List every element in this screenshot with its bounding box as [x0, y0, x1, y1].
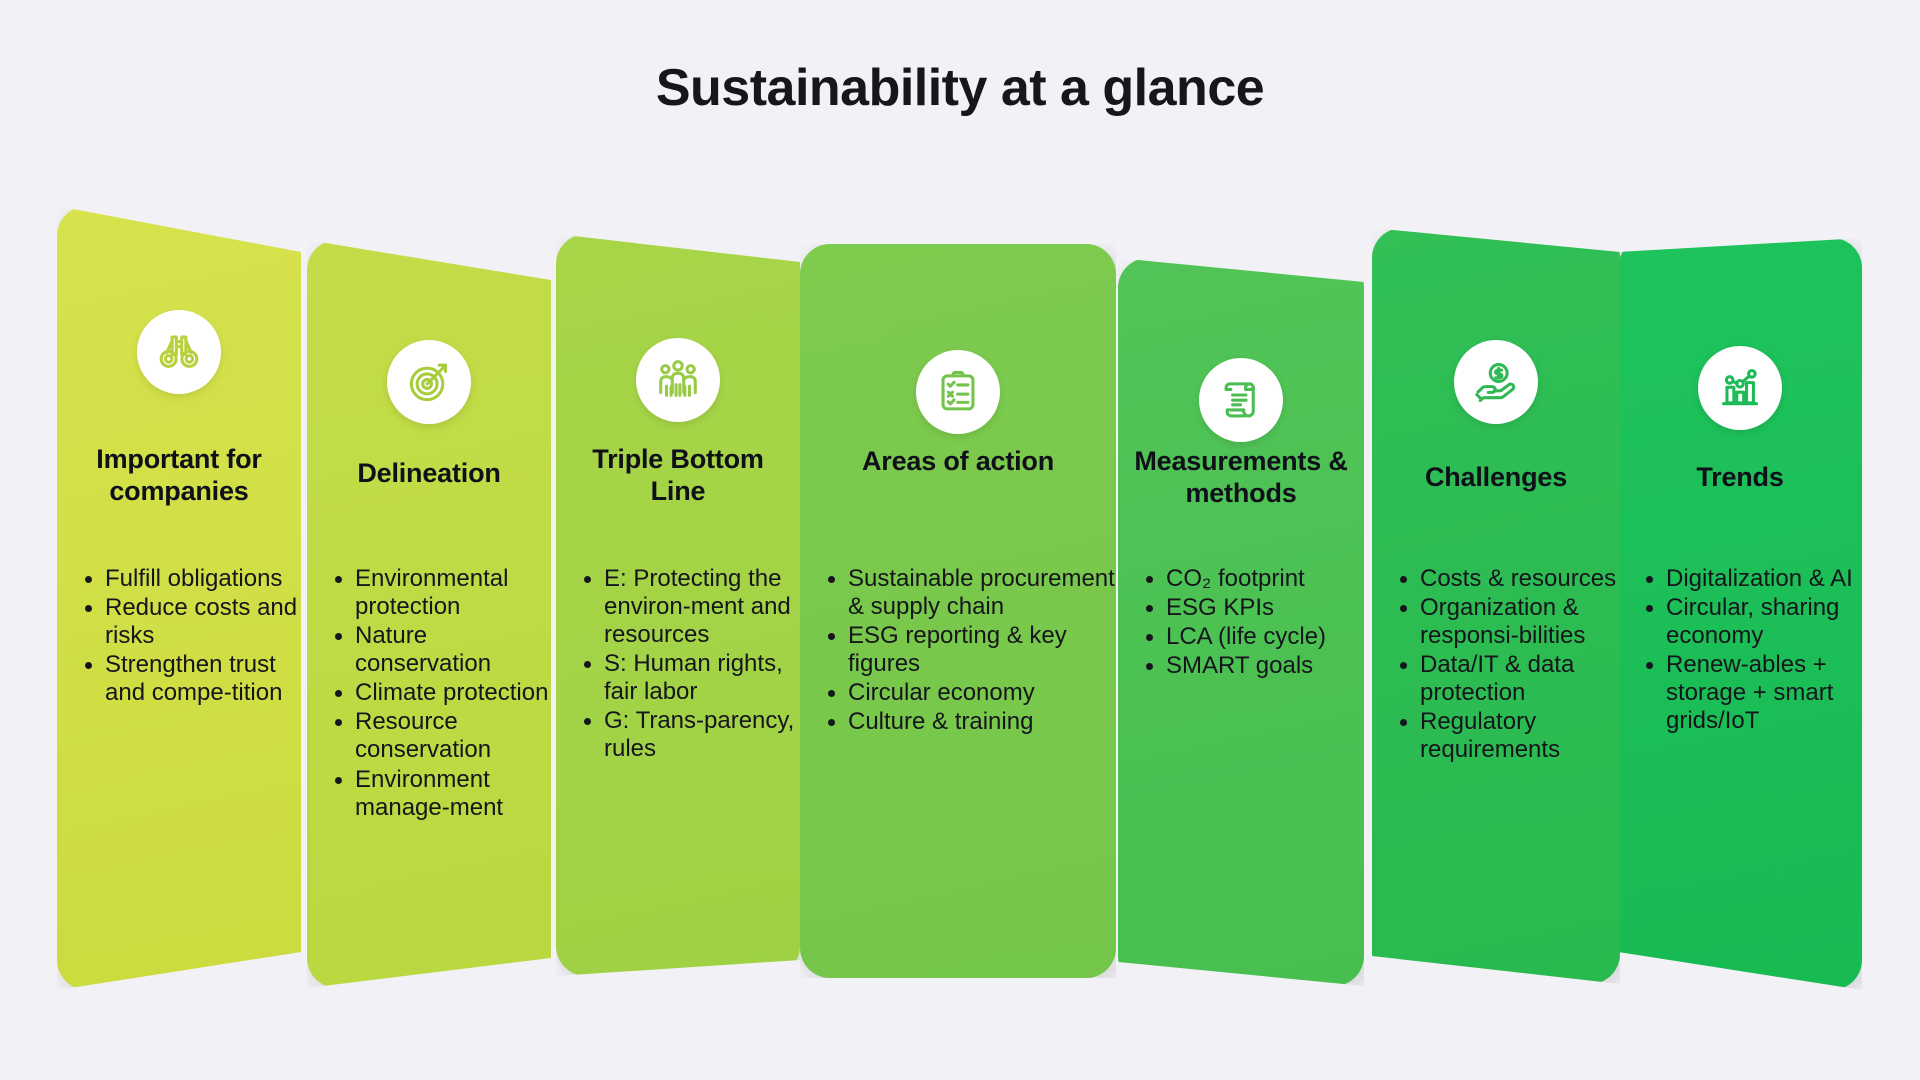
list-item: Costs & resources — [1398, 565, 1636, 593]
card-trends[interactable]: TrendsDigitalization & AICircular, shari… — [1618, 238, 1862, 990]
list-item: LCA (life cycle) — [1144, 623, 1384, 651]
list-item: Digitalization & AI — [1644, 565, 1884, 593]
card-title-measurements-and-methods: Measurements & methods — [1124, 446, 1358, 510]
list-item: Environmental protection — [333, 565, 565, 621]
three-people-icon — [636, 338, 720, 422]
card-list-challenges: Costs & resourcesOrganization & responsi… — [1372, 565, 1636, 766]
card-title-challenges: Challenges — [1378, 462, 1614, 494]
list-item: ESG reporting & key figures — [826, 622, 1122, 678]
hand-holding-money-icon — [1454, 340, 1538, 424]
card-title-trends: Trends — [1624, 462, 1856, 494]
card-title-important-for-companies: Important for companies — [63, 444, 295, 508]
card-content-challenges: ChallengesCosts & resourcesOrganization … — [1372, 228, 1620, 984]
scroll-document-icon — [1199, 358, 1283, 442]
list-item: Organization & responsi-bilities — [1398, 594, 1636, 650]
card-list-measurements-and-methods: CO₂ footprintESG KPIsLCA (life cycle)SMA… — [1118, 565, 1384, 681]
list-item: Data/IT & data protection — [1398, 651, 1636, 707]
card-content-areas-of-action: Areas of actionSustainable procurement &… — [800, 244, 1116, 978]
card-challenges[interactable]: ChallengesCosts & resourcesOrganization … — [1372, 228, 1620, 984]
card-content-delineation: DelineationEnvironmental protectionNatur… — [307, 240, 551, 988]
card-content-triple-bottom-line: Triple Bottom LineE: Protecting the envi… — [556, 234, 800, 976]
list-item: Nature conservation — [333, 622, 565, 678]
list-item: Sustainable procurement & supply chain — [826, 565, 1122, 621]
binoculars-icon — [137, 310, 221, 394]
list-item: Reduce costs and risks — [83, 594, 311, 650]
card-delineation[interactable]: DelineationEnvironmental protectionNatur… — [307, 240, 551, 988]
card-list-important-for-companies: Fulfill obligationsReduce costs and risk… — [57, 565, 311, 708]
list-item: Culture & training — [826, 708, 1122, 736]
list-item: E: Protecting the environ-ment and resou… — [582, 565, 816, 649]
clipboard-checklist-icon — [916, 350, 1000, 434]
card-list-areas-of-action: Sustainable procurement & supply chainES… — [800, 565, 1122, 737]
cards-row: Important for companiesFulfill obligatio… — [0, 0, 1920, 1080]
card-title-areas-of-action: Areas of action — [806, 446, 1110, 478]
list-item: Fulfill obligations — [83, 565, 311, 593]
card-content-important-for-companies: Important for companiesFulfill obligatio… — [57, 206, 301, 990]
card-list-triple-bottom-line: E: Protecting the environ-ment and resou… — [556, 565, 816, 765]
card-title-triple-bottom-line: Triple Bottom Line — [562, 444, 794, 508]
list-item: S: Human rights, fair labor — [582, 650, 816, 706]
bar-chart-trend-icon — [1698, 346, 1782, 430]
card-list-trends: Digitalization & AICircular, sharing eco… — [1618, 565, 1884, 736]
target-dart-icon — [387, 340, 471, 424]
list-item: Circular, sharing economy — [1644, 594, 1884, 650]
card-content-measurements-and-methods: Measurements & methodsCO₂ footprintESG K… — [1118, 258, 1364, 986]
list-item: SMART goals — [1144, 652, 1384, 680]
list-item: Resource conservation — [333, 708, 565, 764]
card-important-for-companies[interactable]: Important for companiesFulfill obligatio… — [57, 206, 301, 990]
card-content-trends: TrendsDigitalization & AICircular, shari… — [1618, 238, 1862, 990]
list-item: Renew-ables + storage + smart grids/IoT — [1644, 651, 1884, 735]
list-item: Strengthen trust and compe-tition — [83, 651, 311, 707]
list-item: Circular economy — [826, 679, 1122, 707]
card-title-delineation: Delineation — [313, 458, 545, 490]
list-item: G: Trans-parency, rules — [582, 707, 816, 763]
list-item: Climate protection — [333, 679, 565, 707]
card-areas-of-action[interactable]: Areas of actionSustainable procurement &… — [800, 244, 1116, 978]
card-list-delineation: Environmental protectionNature conservat… — [307, 565, 565, 823]
list-item: ESG KPIs — [1144, 594, 1384, 622]
list-item: Environment manage-ment — [333, 766, 565, 822]
card-triple-bottom-line[interactable]: Triple Bottom LineE: Protecting the envi… — [556, 234, 800, 976]
list-item: CO₂ footprint — [1144, 565, 1384, 593]
card-measurements-and-methods[interactable]: Measurements & methodsCO₂ footprintESG K… — [1118, 258, 1364, 986]
list-item: Regulatory requirements — [1398, 708, 1636, 764]
